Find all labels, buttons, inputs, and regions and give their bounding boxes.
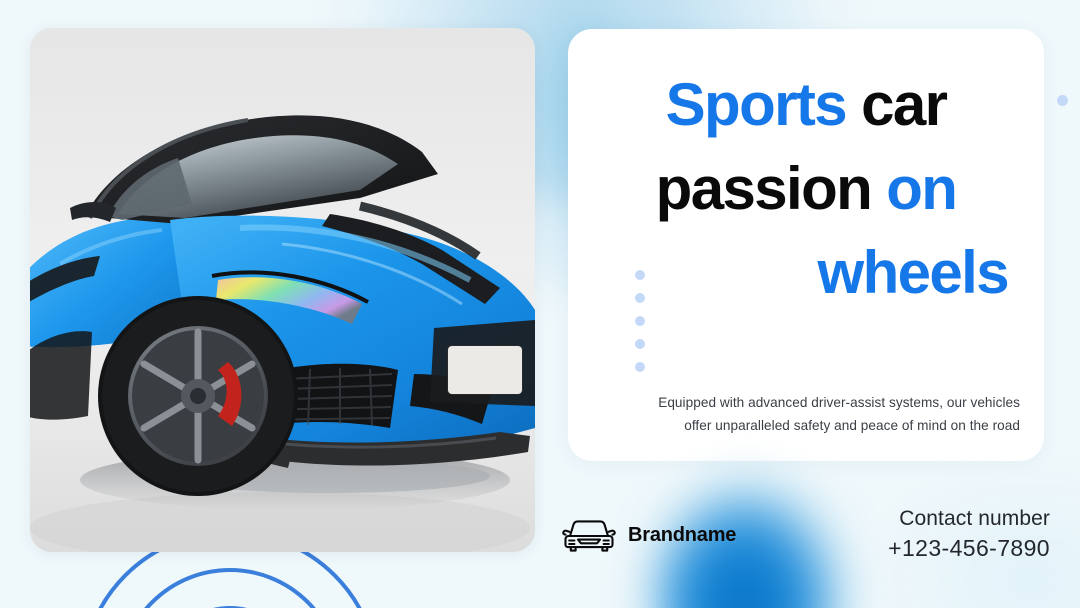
decoration-dot xyxy=(635,362,645,372)
banner-root: Sports car passion on wheels Equipped wi… xyxy=(0,0,1080,608)
contact-number[interactable]: +123-456-7890 xyxy=(888,533,1050,563)
dot-decoration-column xyxy=(635,270,645,372)
body-copy: Equipped with advanced driver-assist sys… xyxy=(628,391,1020,438)
contact-label: Contact number xyxy=(888,505,1050,533)
brand-name: Brandname xyxy=(628,524,736,547)
accent-dot xyxy=(1057,95,1068,106)
headline-word-sports: Sports xyxy=(666,71,846,138)
car-photo xyxy=(30,28,535,552)
decoration-dot xyxy=(635,316,645,326)
headline-word-passion: passion xyxy=(656,155,887,222)
contact-block[interactable]: Contact number +123-456-7890 xyxy=(888,505,1050,563)
decoration-dot xyxy=(635,293,645,303)
decoration-dot xyxy=(635,270,645,280)
headline-card: Sports car passion on wheels Equipped wi… xyxy=(568,29,1044,461)
decoration-dot xyxy=(635,339,645,349)
headline-word-car: car xyxy=(846,71,946,138)
brand-lockup[interactable]: Brandname xyxy=(562,515,736,555)
headline-word-wheels: wheels xyxy=(818,239,1009,306)
page-title: Sports car passion on wheels xyxy=(596,63,1016,315)
headline-word-on: on xyxy=(886,155,956,222)
car-front-icon xyxy=(562,515,616,555)
